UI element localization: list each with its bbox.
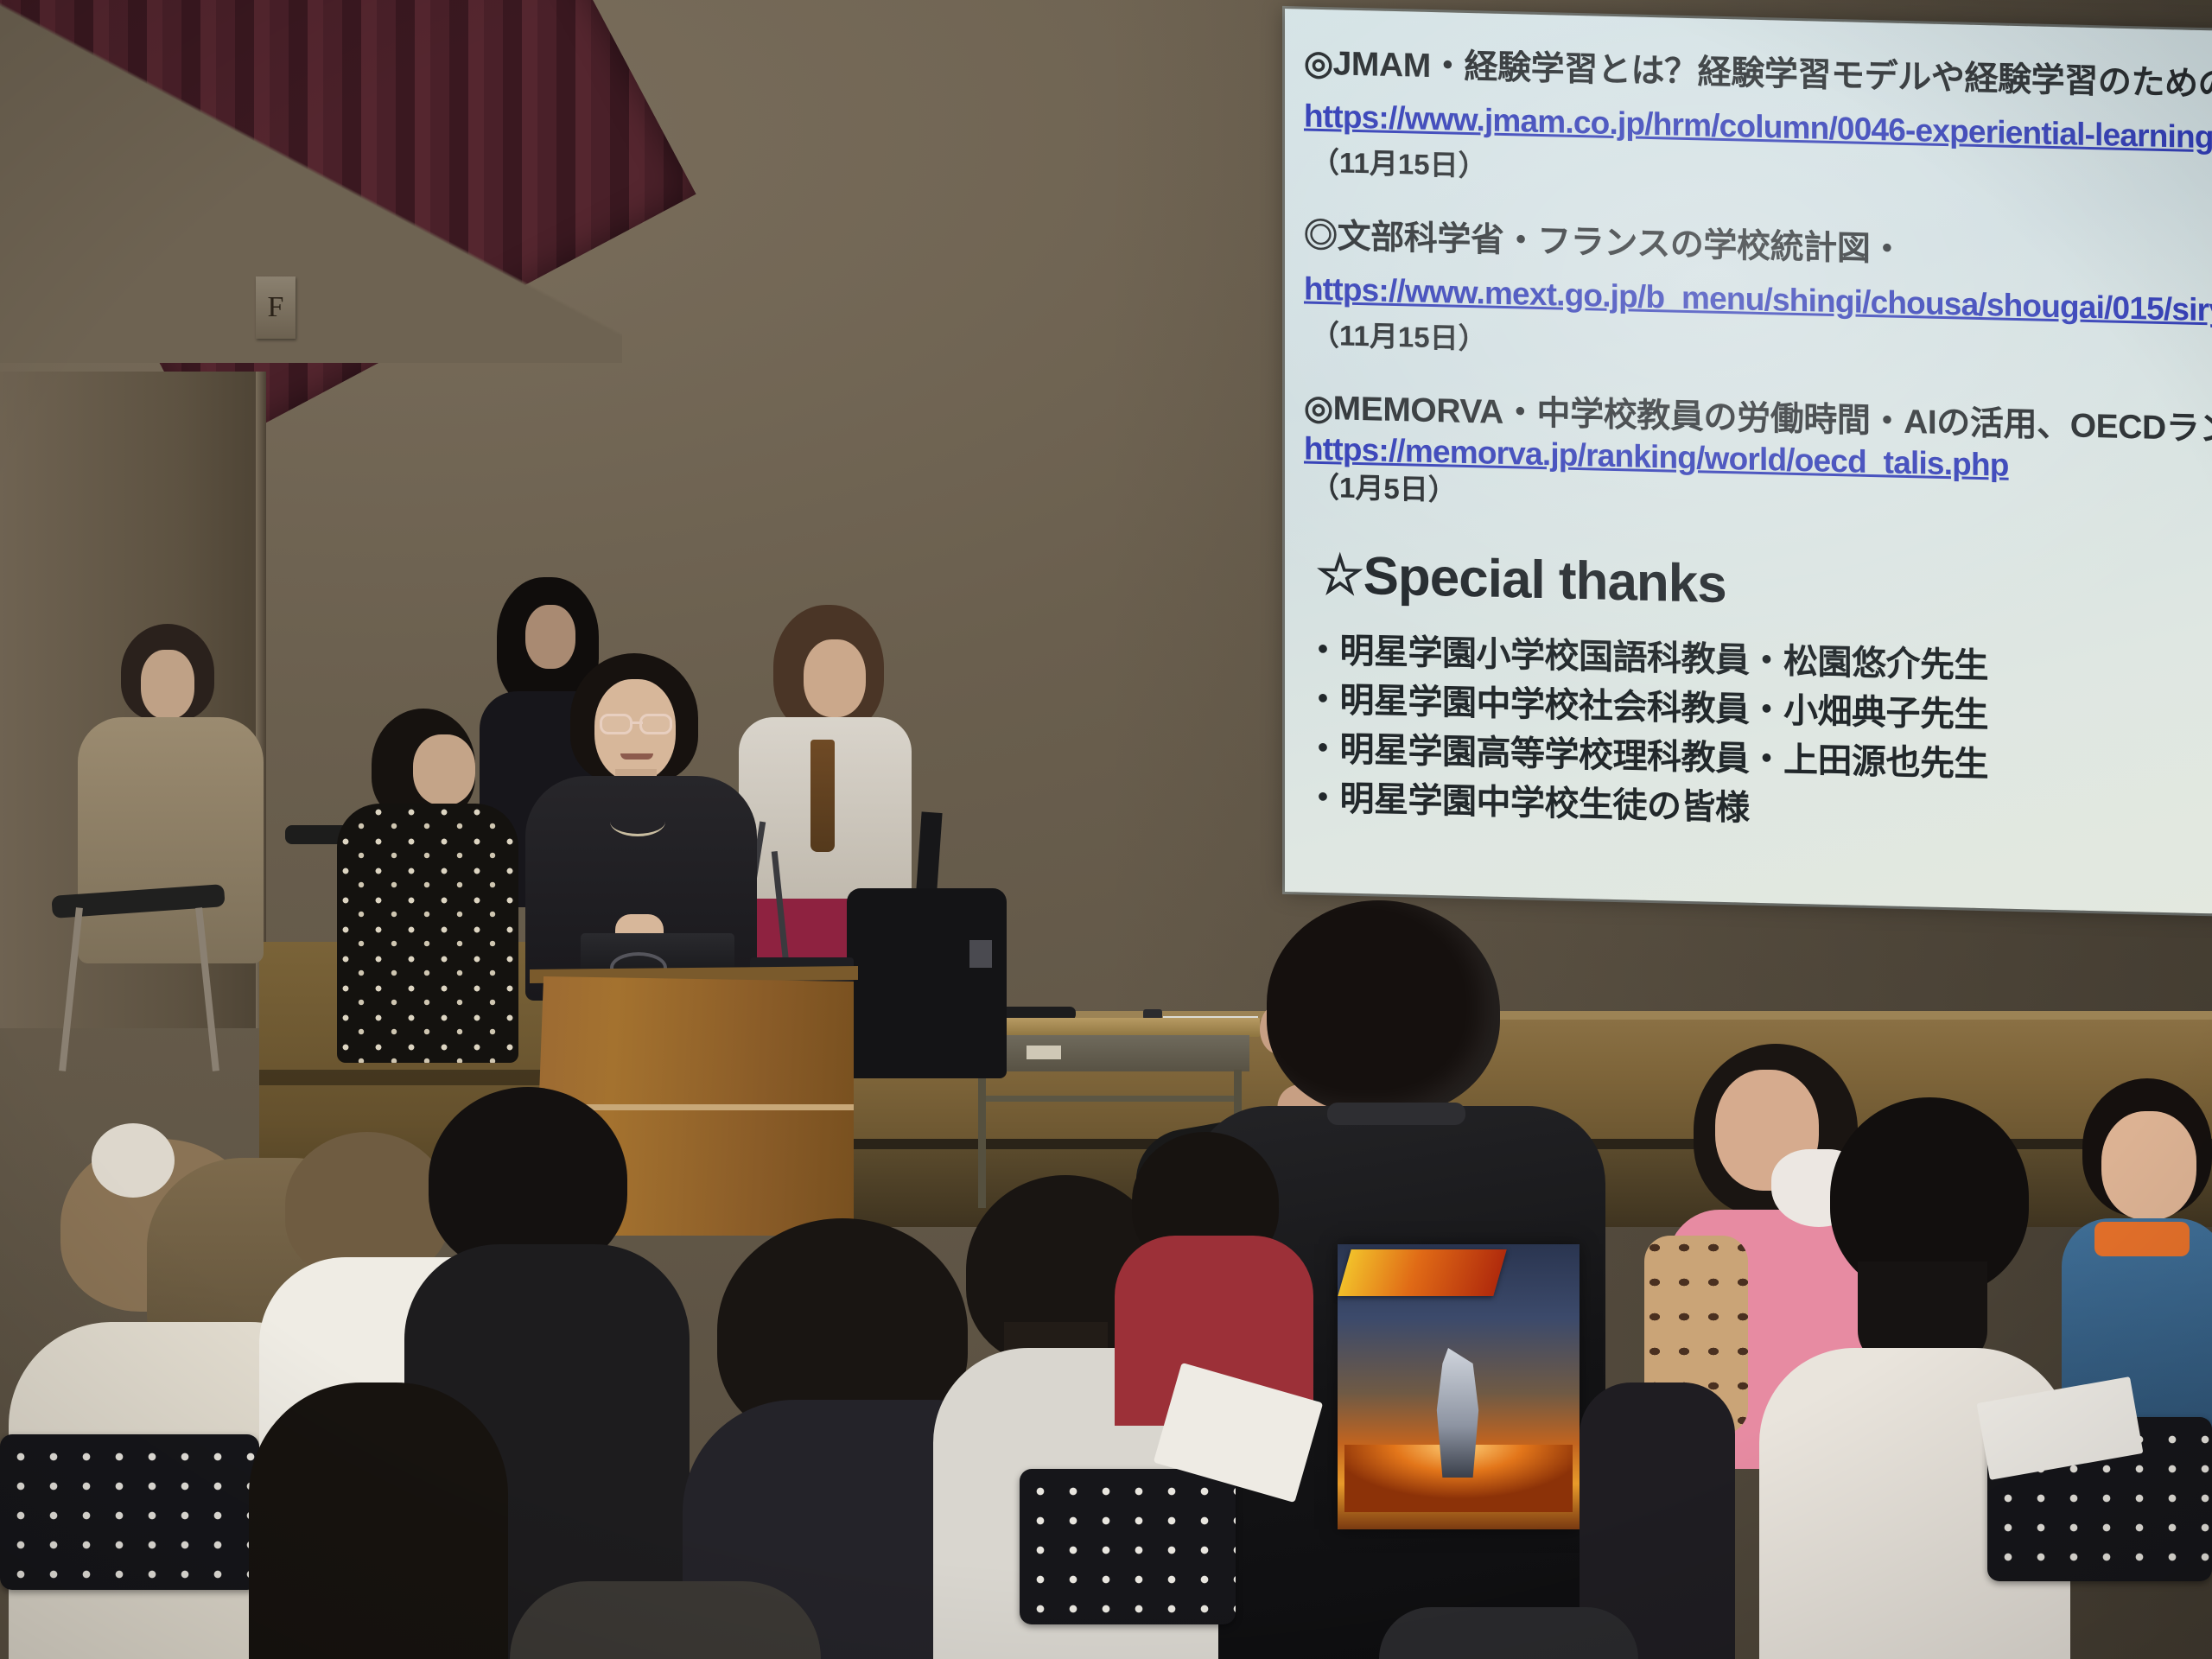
auditorium-chair-back[interactable] xyxy=(1020,1469,1236,1624)
wall-sign-f: F xyxy=(256,276,296,339)
patterned-jacket-woman-body xyxy=(337,804,518,1063)
presenter-mouth xyxy=(620,753,653,760)
standing-person-face xyxy=(525,605,575,669)
presenter-necklace xyxy=(610,807,665,836)
presenter-glasses-right-lens xyxy=(639,714,672,734)
audience-head-front xyxy=(510,1581,821,1659)
seated-woman-face xyxy=(141,650,194,719)
reference-heading-1: ◎JMAM・経験学習とは？経験学習モデルや経験学習のための具体 xyxy=(1304,46,2212,105)
shirt-graphic-logo xyxy=(1338,1249,1506,1296)
hair-scrunchie xyxy=(92,1123,175,1198)
projection-screen: ◎JMAM・経験学習とは？経験学習モデルや経験学習のための具体 https://… xyxy=(1285,9,2212,914)
audience-head-front xyxy=(249,1382,508,1659)
reference-url-1[interactable]: https://www.jmam.co.jp/hrm/column/0046-e… xyxy=(1304,98,2212,156)
school-desk-leg xyxy=(978,1070,986,1208)
special-thanks-title: ☆Special thanks xyxy=(1304,543,2212,627)
black-bag xyxy=(847,888,1007,1078)
auditorium-chair-back[interactable] xyxy=(0,1434,259,1590)
school-desk-plate xyxy=(1027,1046,1061,1059)
school-desk-top xyxy=(966,1018,1260,1037)
special-thanks-list: ・明星学園小学校国語科教員・松園悠介先生 ・明星学園中学校社会科教員・小畑典子先… xyxy=(1304,626,2212,844)
tie-person-necktie xyxy=(810,740,835,852)
bag-tag xyxy=(969,940,992,968)
audience-head-front xyxy=(1379,1607,1638,1659)
slide-content: ◎JMAM・経験学習とは？経験学習モデルや経験学習のための具体 https://… xyxy=(1285,9,2212,914)
seated-woman-beige-coat xyxy=(78,717,264,963)
tie-person-face xyxy=(804,639,866,717)
curtain-mask xyxy=(0,0,622,363)
school-desk-bar xyxy=(978,1096,1242,1102)
presenter-glasses-bridge xyxy=(631,721,643,724)
photo-scene: F ◎JMAM・経験学習とは？経験学習モデルや経験学習のための具体 https:… xyxy=(0,0,2212,1659)
audience-orange-collar xyxy=(2094,1222,2190,1256)
reference-url-2[interactable]: https://www.mext.go.jp/b_menu/shingi/cho… xyxy=(1304,270,2212,329)
patterned-jacket-woman-face xyxy=(413,734,475,805)
presenter-glasses-left-lens xyxy=(600,714,632,734)
questioner-collar xyxy=(1327,1103,1465,1125)
audience-face-smiling xyxy=(2101,1111,2196,1220)
school-desk-body xyxy=(975,1035,1249,1071)
